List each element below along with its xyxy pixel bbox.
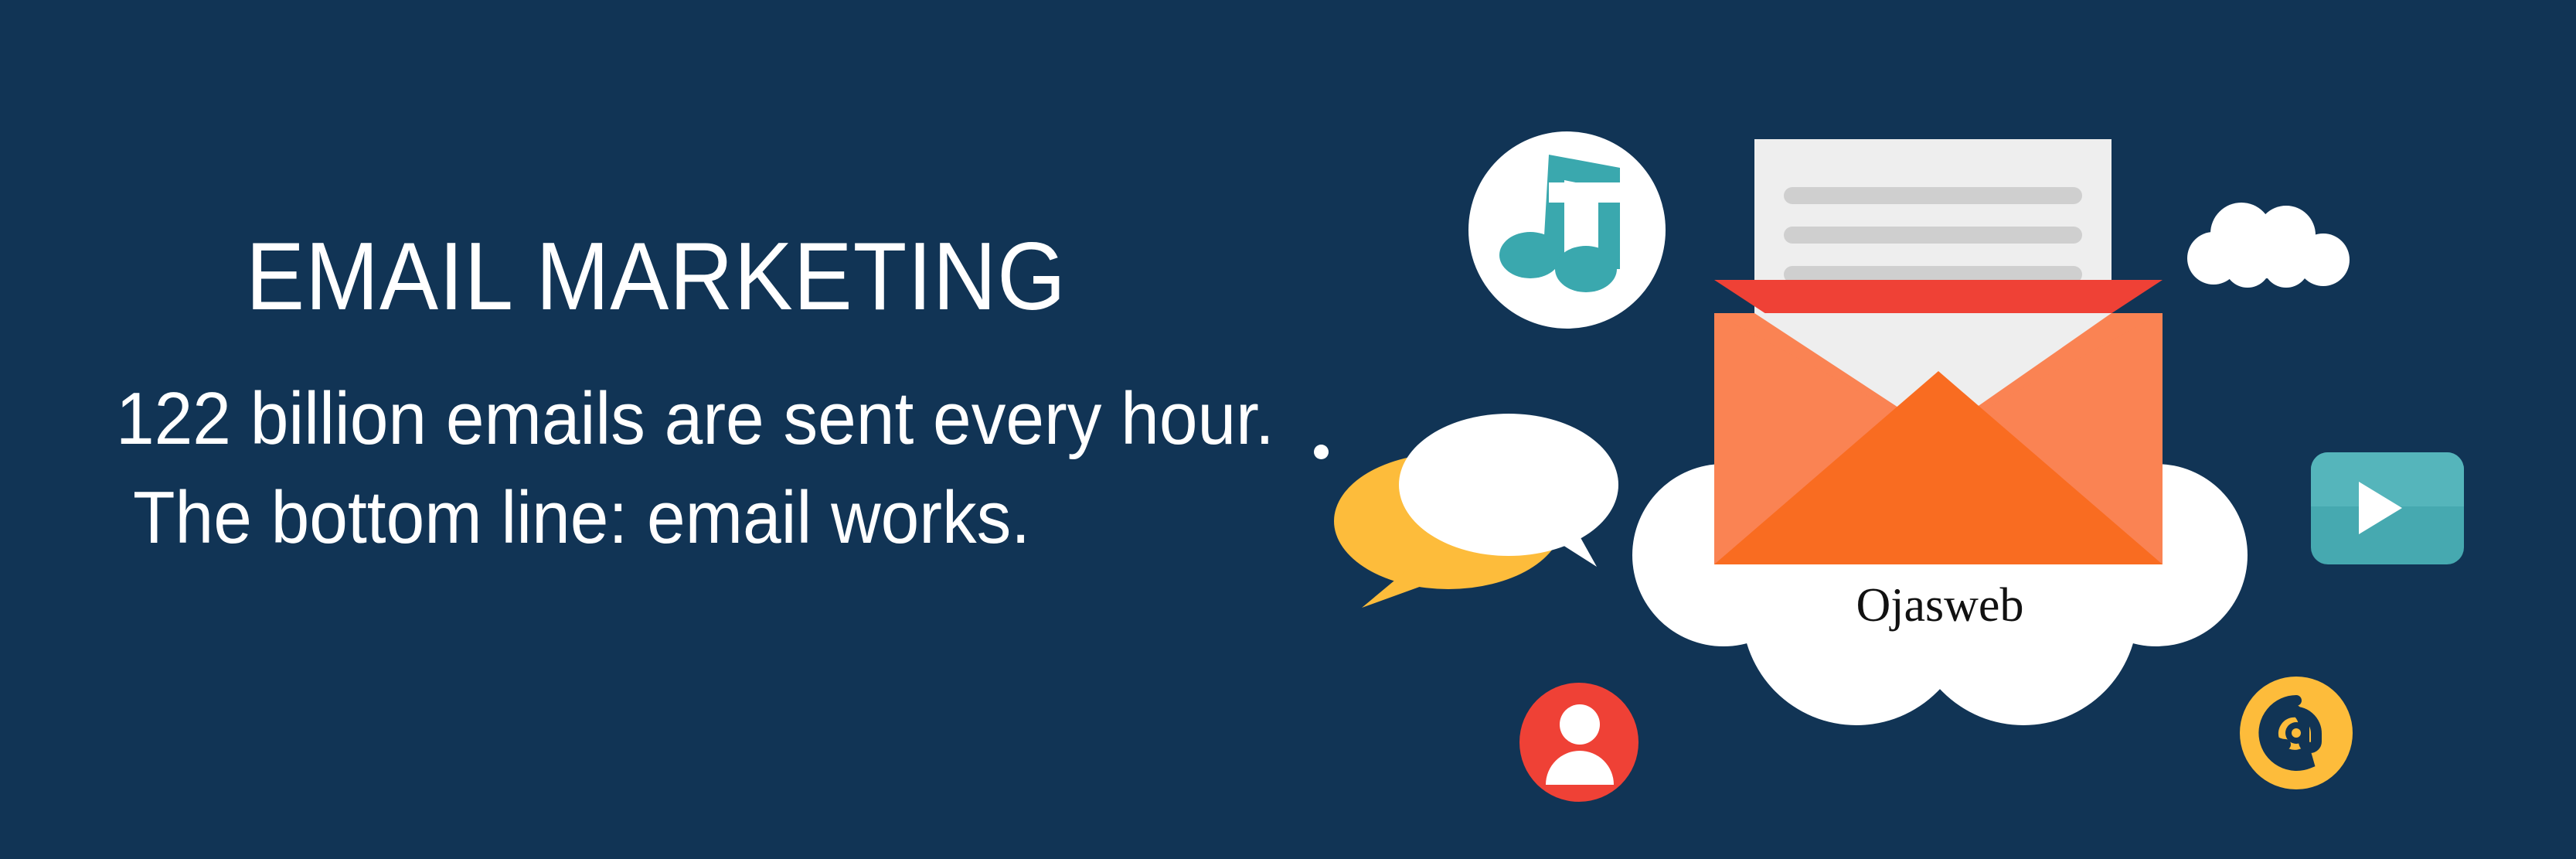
subtitle-line-1: 122 billion emails are sent every hour. (116, 382, 1274, 456)
speech-bubble-front-icon (1399, 414, 1618, 572)
avatar-body-icon (1546, 751, 1614, 785)
user-avatar-badge (1519, 683, 1638, 802)
subtitle-line-2: The bottom line: email works. (133, 481, 1030, 555)
decorative-dot (1314, 445, 1329, 459)
email-marketing-banner: EMAIL MARKETING 122 billion emails are s… (0, 0, 2576, 859)
cloud-small-icon (2187, 203, 2365, 288)
at-sign-icon (2240, 677, 2353, 789)
brand-name: Ojasweb (1839, 581, 2040, 629)
open-envelope-graphic (1714, 139, 2163, 564)
at-sign-badge (2240, 677, 2353, 789)
music-note-badge (1468, 131, 1666, 329)
avatar-head-icon (1560, 704, 1600, 745)
play-icon (2359, 482, 2402, 534)
envelope-body-icon (1714, 139, 2163, 564)
music-note-icon (1468, 131, 1666, 329)
page-title: EMAIL MARKETING (246, 229, 1067, 325)
video-play-badge (2311, 452, 2464, 564)
